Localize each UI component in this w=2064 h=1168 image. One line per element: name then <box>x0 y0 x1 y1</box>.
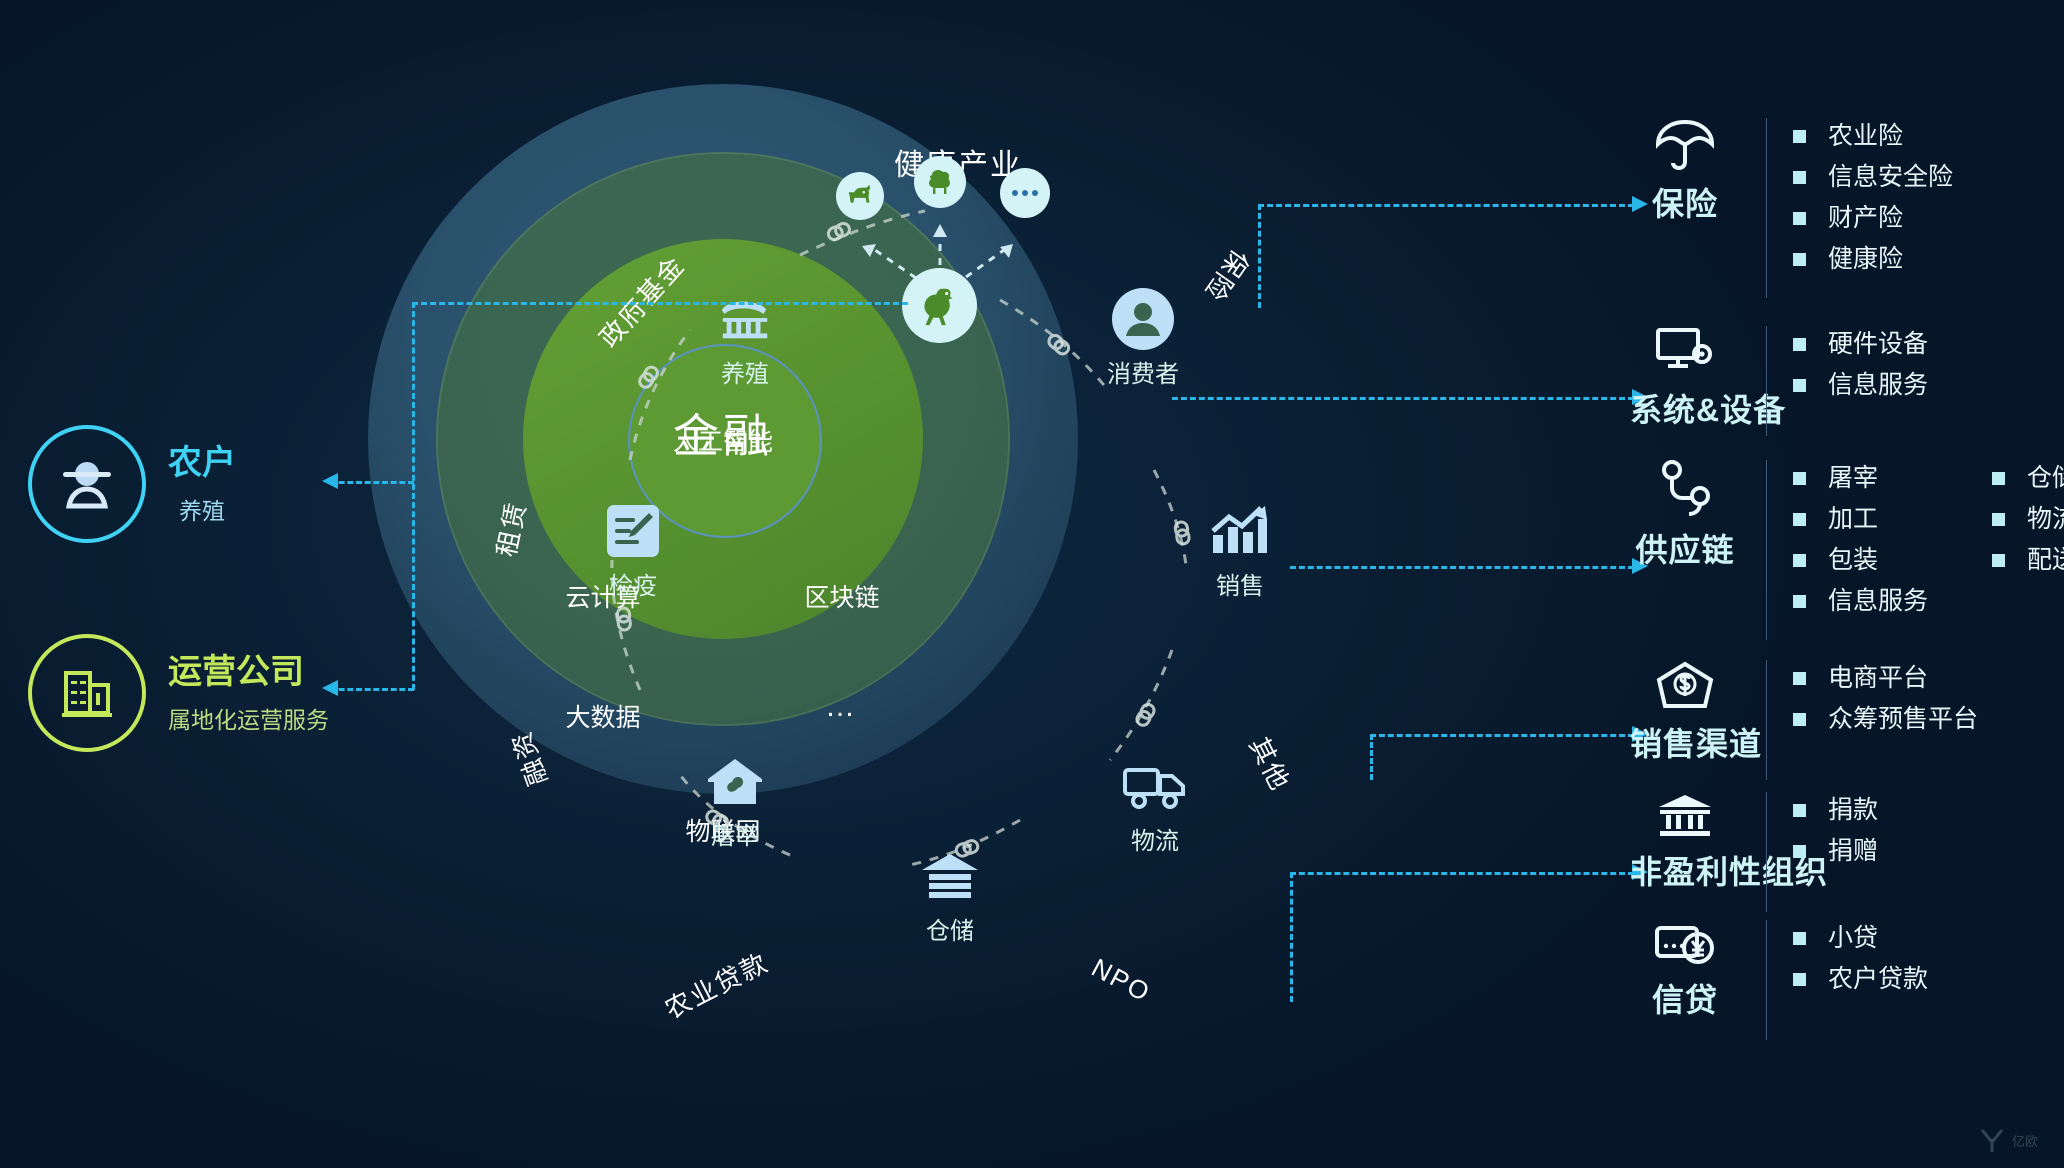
ring-node-slaughter[interactable]: 屠宰 <box>660 750 810 851</box>
watermark: 亿欧 <box>1978 1126 2038 1154</box>
list-item: 健康险 <box>1793 247 1953 272</box>
list-item: 捐款 <box>1793 798 1878 823</box>
chicken-icon <box>902 268 977 343</box>
right-row-title: 保险 <box>1630 179 1740 225</box>
right-connector-insurance-h <box>1258 204 1634 207</box>
bank-icon <box>1655 827 1715 844</box>
right-connector-npo-v <box>1290 872 1293 1002</box>
bullet-icon <box>1793 253 1806 266</box>
list-item: 信息服务 <box>1793 589 1928 614</box>
divider <box>1766 118 1767 298</box>
list-item: 加工 <box>1793 507 1928 532</box>
right-row-list: 农业险 信息安全险 财产险 健康险 <box>1793 124 1953 288</box>
left-card-title: 农户 <box>168 442 236 485</box>
quarantine-icon <box>558 500 708 562</box>
right-row-supply-chain[interactable]: 供应链 屠宰 加工 包装 信息服务 仓储 物流 配送 <box>1630 460 2064 640</box>
tech-label-blockchain: 区块链 <box>752 578 932 614</box>
right-row-list-col2: 仓储 物流 配送 <box>1992 466 2064 630</box>
bullet-icon <box>1793 713 1806 726</box>
list-item: 捐赠 <box>1793 839 1878 864</box>
bullet-icon <box>1793 932 1806 945</box>
bullet-icon <box>1992 554 2005 567</box>
bullet-icon <box>1992 513 2005 526</box>
bullet-icon <box>1793 472 1806 485</box>
left-connector-vertical <box>412 302 415 690</box>
card-yen-icon <box>1654 955 1716 972</box>
list-item: 硬件设备 <box>1793 332 1928 357</box>
bullet-icon <box>1793 804 1806 817</box>
truck-icon <box>1080 755 1230 817</box>
person-icon <box>1068 288 1218 350</box>
sheep-icon <box>914 156 966 208</box>
left-card-farmer[interactable]: 农户 养殖 <box>28 425 236 543</box>
bullet-icon <box>1793 554 1806 567</box>
right-row-npo[interactable]: 非盈利性组织 捐款 捐赠 <box>1630 792 1878 912</box>
ring-node-sales[interactable]: 销售 <box>1165 500 1315 601</box>
bullet-icon <box>1793 845 1806 858</box>
right-row-title: 销售渠道 <box>1630 719 1740 765</box>
bullet-icon <box>1793 595 1806 608</box>
right-row-insurance[interactable]: 保险 农业险 信息安全险 财产险 健康险 <box>1630 118 1953 298</box>
ring-node-label: 仓储 <box>875 911 1025 946</box>
divider <box>1766 460 1767 640</box>
list-item: 小贷 <box>1793 926 1928 951</box>
tech-label-bigdata: 大数据 <box>513 698 693 734</box>
ring-node-consumer[interactable]: 消费者 <box>1068 288 1218 389</box>
bullet-icon <box>1793 379 1806 392</box>
right-connector-supply-h <box>1290 566 1634 569</box>
list-item: 物流 <box>1992 507 2064 532</box>
right-row-list: 小贷 农户贷款 <box>1793 926 1928 1008</box>
tech-label-ai: 人工智能 <box>623 422 823 458</box>
right-row-title: 非盈利性组织 <box>1630 847 1740 893</box>
right-row-list: 电商平台 众筹预售平台 <box>1793 666 1978 748</box>
list-item: 农业险 <box>1793 124 1953 149</box>
divider <box>1766 660 1767 780</box>
divider <box>1766 792 1767 912</box>
ellipsis-icon <box>1000 168 1050 218</box>
left-card-subtitle: 属地化运营服务 <box>168 701 329 735</box>
ring-node-label: 消费者 <box>1068 354 1218 389</box>
list-item: 财产险 <box>1793 206 1953 231</box>
list-item: 屠宰 <box>1793 466 1928 491</box>
right-row-list-col1: 屠宰 加工 包装 信息服务 <box>1793 466 1928 630</box>
list-item: 信息安全险 <box>1793 165 1953 190</box>
outer-label-other: 其他 <box>1242 730 1300 797</box>
diagram-canvas: 金融 人工智能 云计算 区块链 大数据 物联网 … 政府基金 租赁 融资 农业贷… <box>0 0 2064 1168</box>
outer-label-agri-loan: 农业贷款 <box>658 943 775 1027</box>
bullet-icon <box>1793 973 1806 986</box>
warehouse-icon <box>875 845 1025 907</box>
monitor-gear-icon <box>1654 365 1716 382</box>
bullet-icon <box>1793 672 1806 685</box>
slaughter-house-icon <box>660 750 810 812</box>
right-row-title: 供应链 <box>1630 525 1740 571</box>
left-card-subtitle: 养殖 <box>168 492 236 526</box>
right-row-title: 系统&设备 <box>1630 385 1740 431</box>
bullet-icon <box>1992 472 2005 485</box>
cow-icon <box>836 172 884 220</box>
right-row-list: 硬件设备 信息服务 <box>1793 332 1928 414</box>
list-item: 电商平台 <box>1793 666 1978 691</box>
ring-node-label: 销售 <box>1165 566 1315 601</box>
divider <box>1766 920 1767 1040</box>
right-connector-sales-h <box>1370 734 1634 737</box>
tech-label-more: … <box>752 690 932 724</box>
ring-node-label: 检疫 <box>558 566 708 601</box>
ring-node-warehouse[interactable]: 仓储 <box>875 845 1025 946</box>
right-connector-sales-v <box>1370 734 1373 780</box>
shop-dollar-icon <box>1655 699 1715 716</box>
left-card-operator[interactable]: 运营公司 属地化运营服务 <box>28 634 329 752</box>
list-item: 众筹预售平台 <box>1793 707 1978 732</box>
list-item: 仓储 <box>1992 466 2064 491</box>
bullet-icon <box>1793 171 1806 184</box>
right-row-sales-channel[interactable]: 销售渠道 电商平台 众筹预售平台 <box>1630 660 1978 780</box>
right-connector-insurance-v <box>1258 204 1261 308</box>
right-row-credit[interactable]: 信贷 小贷 农户贷款 <box>1630 920 1928 1040</box>
ring-node-label: 屠宰 <box>660 816 810 851</box>
supply-chain-icon <box>1656 505 1714 522</box>
building-icon <box>28 634 146 752</box>
list-item: 信息服务 <box>1793 373 1928 398</box>
bullet-icon <box>1793 130 1806 143</box>
left-connector-top <box>412 302 908 305</box>
right-connector-system-h <box>1172 397 1634 400</box>
growth-chart-icon <box>1165 500 1315 562</box>
ring-node-quarantine[interactable]: 检疫 <box>558 500 708 601</box>
ring-node-label: 物流 <box>1080 821 1230 856</box>
bullet-icon <box>1793 338 1806 351</box>
right-row-title: 信贷 <box>1630 975 1740 1021</box>
outer-label-npo: NPO <box>1086 952 1156 1009</box>
watermark-logo-icon <box>1978 1126 2006 1154</box>
right-connector-npo-h <box>1290 872 1634 875</box>
left-card-title: 运营公司 <box>168 651 329 694</box>
left-connector-farmer <box>330 481 414 484</box>
umbrella-icon <box>1654 159 1716 176</box>
ring-node-logistics[interactable]: 物流 <box>1080 755 1230 856</box>
bullet-icon <box>1793 513 1806 526</box>
list-item: 配送 <box>1992 548 2064 573</box>
barn-icon <box>670 288 820 350</box>
right-row-system[interactable]: 系统&设备 硬件设备 信息服务 <box>1630 326 1928 436</box>
list-item: 包装 <box>1793 548 1928 573</box>
farmer-icon <box>28 425 146 543</box>
divider <box>1766 326 1767 436</box>
bullet-icon <box>1793 212 1806 225</box>
ring-node-label: 养殖 <box>670 354 820 389</box>
left-connector-operator <box>330 688 414 691</box>
right-row-list: 捐款 捐赠 <box>1793 798 1878 880</box>
list-item: 农户贷款 <box>1793 967 1928 992</box>
